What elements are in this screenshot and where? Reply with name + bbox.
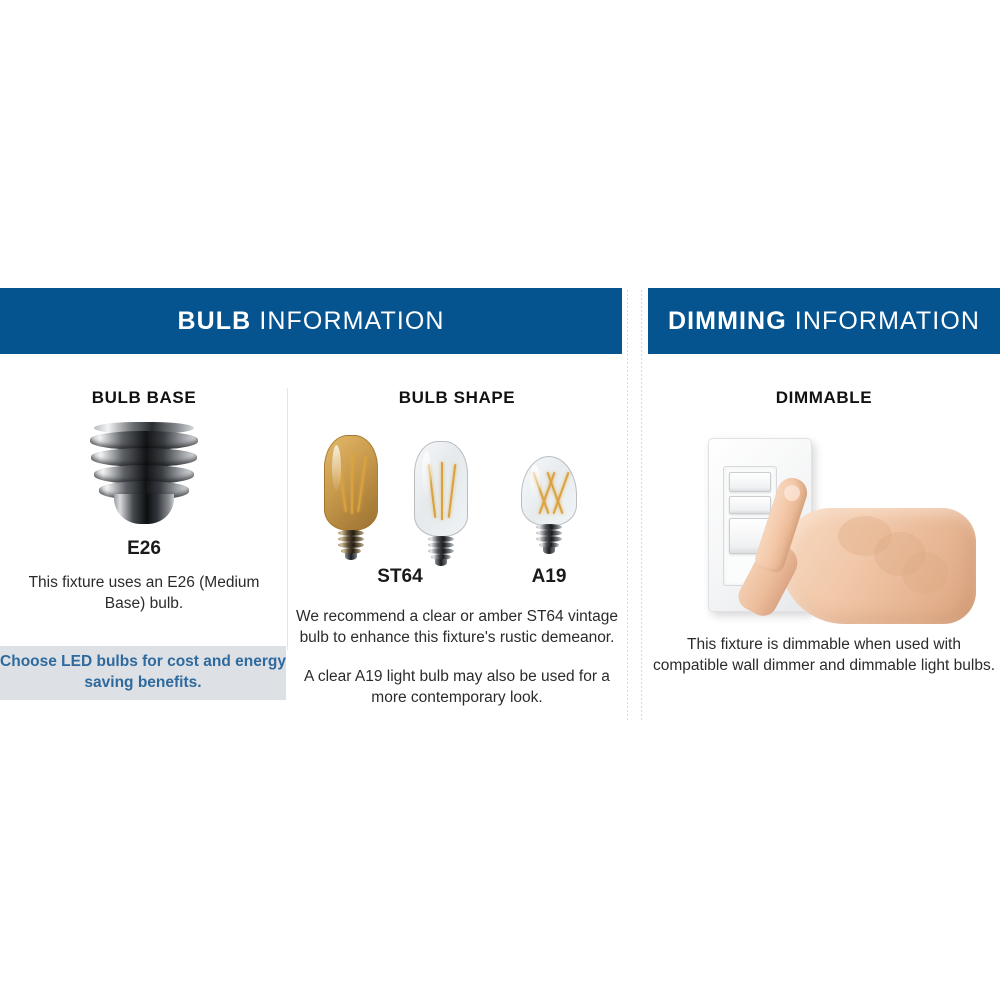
dimmable-description: This fixture is dimmable when used with … <box>650 634 998 677</box>
dimmable-title: DIMMABLE <box>650 388 998 408</box>
bulb-base-title: BULB BASE <box>8 388 280 408</box>
dimming-header-light: INFORMATION <box>795 307 980 335</box>
bulb-header-light: INFORMATION <box>259 307 444 335</box>
bulb-and-dimming-info-sheet: BULB INFORMATION BULB BASE E26 This fixt… <box>0 0 1000 1000</box>
bulb-information-header: BULB INFORMATION <box>0 288 622 354</box>
bulb-shape-title: BULB SHAPE <box>296 388 618 408</box>
bulb-shape-images <box>296 416 618 566</box>
bulb-column-divider <box>287 388 288 650</box>
wall-dimmer-switch-with-hand-icon <box>650 416 998 624</box>
dimming-header-strong: DIMMING <box>668 307 787 335</box>
led-callout-text: Choose LED bulbs for cost and energy sav… <box>0 652 286 694</box>
dimming-information-header-text: DIMMING INFORMATION <box>668 307 980 336</box>
st64-clear-bulb-icon <box>414 441 468 566</box>
panel-separator-right <box>641 290 642 720</box>
panel-separator-left <box>627 290 628 720</box>
bulb-shape-paragraph-1: We recommend a clear or amber ST64 vinta… <box>296 606 618 649</box>
dimming-information-header: DIMMING INFORMATION <box>648 288 1000 354</box>
bulb-header-strong: BULB <box>177 307 251 335</box>
bulb-information-header-text: BULB INFORMATION <box>177 307 444 336</box>
a19-clear-bulb-icon <box>521 456 577 554</box>
dimmable-column: DIMMABLE This fixture is dimmable when u… <box>650 388 998 677</box>
bulb-shape-column: BULB SHAPE <box>296 388 618 709</box>
bulb-base-description: This fixture uses an E26 (Medium Base) b… <box>8 572 280 615</box>
bulb-information-panel: BULB INFORMATION <box>0 288 622 354</box>
st64-amber-bulb-icon <box>324 435 378 560</box>
bulb-base-code: E26 <box>8 538 280 560</box>
bulb-base-column: BULB BASE E26 This fixture uses an E26 (… <box>8 388 280 615</box>
bulb-shape-paragraph-2: A clear A19 light bulb may also be used … <box>296 666 618 709</box>
e26-screw-base-icon <box>88 422 200 528</box>
led-callout-box: Choose LED bulbs for cost and energy sav… <box>0 646 286 700</box>
bulb-label-st64: ST64 <box>364 566 436 588</box>
bulb-shape-labels: ST64 A19 <box>296 566 618 592</box>
hand-illustration <box>746 474 996 624</box>
dimming-information-panel: DIMMING INFORMATION <box>648 288 1000 354</box>
bulb-label-a19: A19 <box>518 566 580 588</box>
